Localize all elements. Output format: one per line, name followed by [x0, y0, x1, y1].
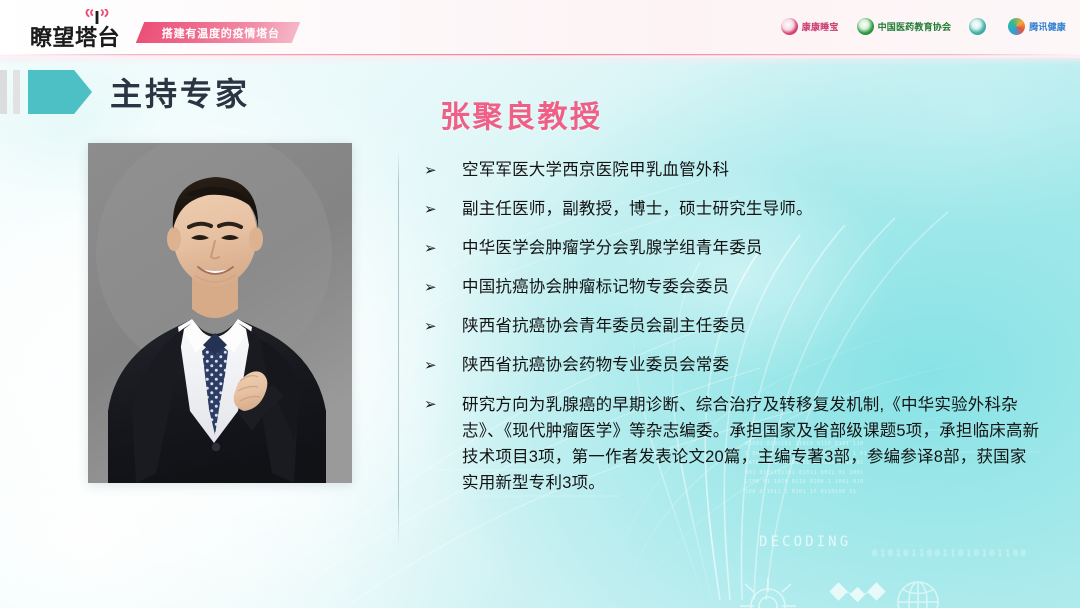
list-item-text: 中华医学会肿瘤学分会乳腺学组青年委员: [462, 236, 1040, 261]
bullet-arrow-icon: ➢: [424, 197, 462, 221]
bullet-arrow-icon: ➢: [424, 392, 462, 416]
sponsor-logo-1-label: 康康睡宝: [802, 20, 839, 33]
page-title: 主持专家: [110, 69, 250, 115]
list-item-text: 空军军医大学西京医院甲乳血管外科: [462, 158, 1040, 183]
header-tagline-text: 搭建有温度的疫情塔台: [162, 25, 280, 41]
header-fade: [0, 55, 1080, 65]
list-item-text: 研究方向为乳腺癌的早期诊断、综合治疗及转移复发机制,《中华实验外科杂志》、《现代…: [462, 392, 1040, 496]
sponsor-logo-3[interactable]: [969, 18, 990, 35]
signal-tower-icon: [84, 9, 110, 24]
expert-photo-frame: [88, 143, 352, 483]
tencent-health-logo-icon: [1008, 18, 1025, 35]
teal-circle-logo-icon: [969, 18, 986, 35]
sponsor-logo-4-label: 腾讯健康: [1029, 20, 1066, 33]
list-item: ➢ 副主任医师，副教授，博士，硕士研究生导师。: [424, 197, 1040, 222]
bullet-arrow-icon: ➢: [424, 314, 462, 338]
expert-name: 张聚良教授: [440, 92, 603, 136]
sponsor-logo-2[interactable]: 中国医药教育协会: [857, 18, 952, 35]
green-circle-logo-icon: [857, 18, 874, 35]
expert-credentials-list: ➢ 空军军医大学西京医院甲乳血管外科 ➢ 副主任医师，副教授，博士，硕士研究生导…: [424, 158, 1040, 496]
list-item: ➢ 中国抗癌协会肿瘤标记物专委会委员: [424, 275, 1040, 300]
pink-circle-logo-icon: [781, 18, 798, 35]
header-tagline: 搭建有温度的疫情塔台: [136, 22, 300, 43]
avatar: [88, 143, 352, 483]
sponsor-logo-2-label: 中国医药教育协会: [878, 20, 952, 33]
list-item: ➢ 陕西省抗癌协会药物专业委员会常委: [424, 353, 1040, 378]
sponsor-logo-1[interactable]: 康康睡宝: [781, 18, 839, 35]
bullet-arrow-icon: ➢: [424, 236, 462, 260]
brand-logo[interactable]: 瞭望塔台: [30, 9, 146, 51]
list-item: ➢ 空军军医大学西京医院甲乳血管外科: [424, 158, 1040, 183]
section-title-bar-1: [0, 70, 7, 114]
list-item: ➢ 陕西省抗癌协会青年委员会副主任委员: [424, 314, 1040, 339]
header-bar: 瞭望塔台 搭建有温度的疫情塔台 康康睡宝 中国医药教育协会 腾讯健康: [0, 0, 1080, 58]
content-divider: [398, 152, 399, 546]
bullet-arrow-icon: ➢: [424, 158, 462, 182]
bullet-arrow-icon: ➢: [424, 275, 462, 299]
brand-logo-text: 瞭望塔台: [30, 25, 120, 51]
list-item-text: 副主任医师，副教授，博士，硕士研究生导师。: [462, 197, 1040, 222]
list-item-text: 中国抗癌协会肿瘤标记物专委会委员: [462, 275, 1040, 300]
list-item: ➢ 研究方向为乳腺癌的早期诊断、综合治疗及转移复发机制,《中华实验外科杂志》、《…: [424, 392, 1040, 496]
section-title-arrow-icon: [28, 70, 92, 114]
section-title: 主持专家: [0, 68, 250, 116]
section-title-bar-2: [13, 70, 20, 114]
sponsor-logo-4[interactable]: 腾讯健康: [1008, 18, 1066, 35]
slide-root: 01001 0101101 11010 0110 0101 110 1 0010…: [0, 0, 1080, 608]
list-item-text: 陕西省抗癌协会药物专业委员会常委: [462, 353, 1040, 378]
bullet-arrow-icon: ➢: [424, 353, 462, 377]
list-item-text: 陕西省抗癌协会青年委员会副主任委员: [462, 314, 1040, 339]
sponsor-logo-group: 康康睡宝 中国医药教育协会 腾讯健康: [781, 18, 1066, 35]
list-item: ➢ 中华医学会肿瘤学分会乳腺学组青年委员: [424, 236, 1040, 261]
